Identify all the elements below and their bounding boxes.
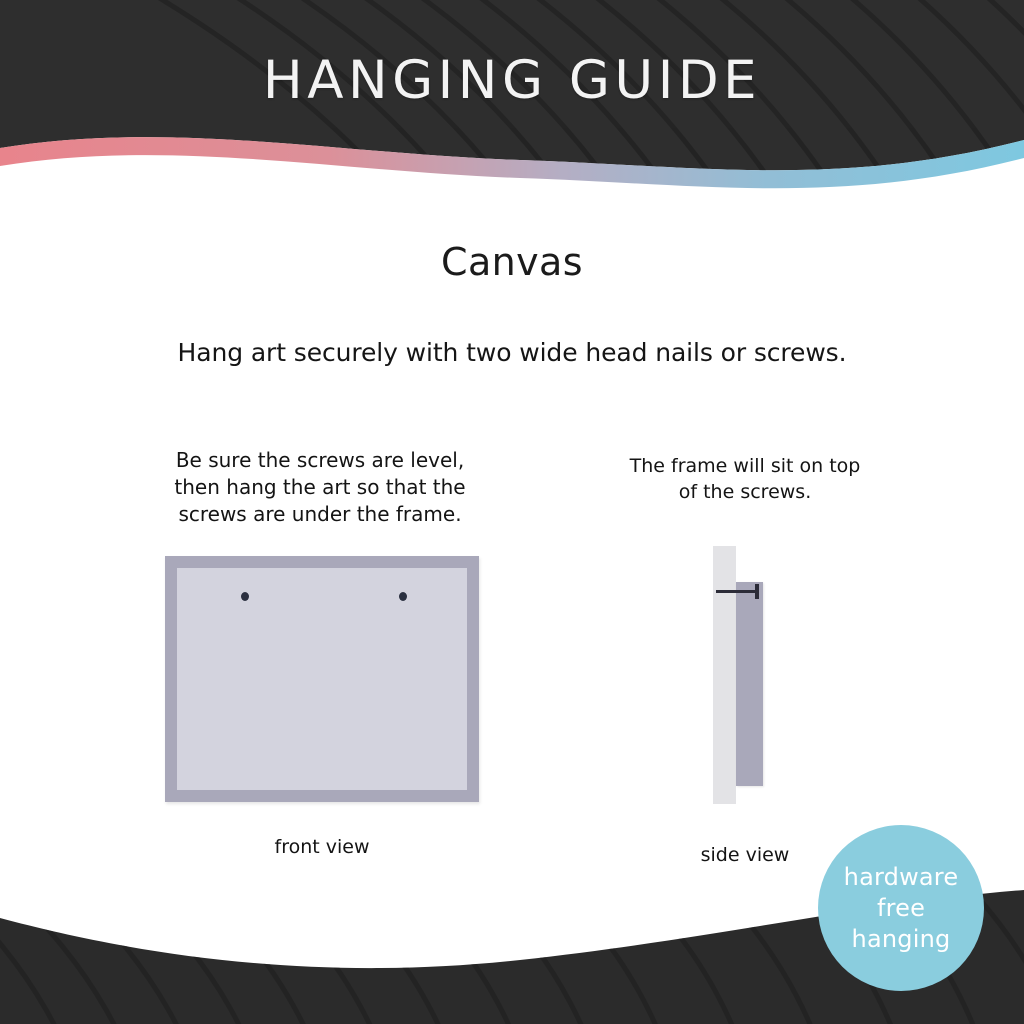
screw-hole-left-icon bbox=[241, 592, 249, 601]
front-view-label: front view bbox=[165, 836, 479, 858]
front-view-frame-diagram bbox=[165, 556, 479, 802]
hardware-free-hanging-badge: hardware free hanging bbox=[818, 825, 984, 991]
front-view-caption-line-1: Be sure the screws are level, bbox=[150, 447, 490, 474]
screw-hole-right-icon bbox=[399, 592, 407, 601]
wall-strip bbox=[713, 546, 736, 804]
badge-line-2: free bbox=[877, 893, 925, 924]
header-band: HANGING GUIDE bbox=[0, 0, 1024, 200]
hanging-guide-poster: HANGING GUIDE Canvas Hang art securely w… bbox=[0, 0, 1024, 1024]
screw-shaft-icon bbox=[716, 590, 758, 593]
front-view-caption-line-3: screws are under the frame. bbox=[150, 501, 490, 528]
badge-line-3: hanging bbox=[852, 924, 951, 955]
front-view-caption-line-2: then hang the art so that the bbox=[150, 474, 490, 501]
side-view-diagram bbox=[700, 546, 790, 806]
front-view-art-panel bbox=[177, 568, 467, 790]
instruction-lede: Hang art securely with two wide head nai… bbox=[0, 338, 1024, 367]
side-view-label: side view bbox=[670, 844, 820, 866]
side-view-caption-line-1: The frame will sit on top bbox=[600, 453, 890, 479]
screw-head-icon bbox=[755, 584, 759, 599]
front-view-caption: Be sure the screws are level, then hang … bbox=[150, 447, 490, 528]
product-name: Canvas bbox=[0, 240, 1024, 284]
side-view-caption: The frame will sit on top of the screws. bbox=[600, 453, 890, 505]
badge-line-1: hardware bbox=[844, 862, 959, 893]
side-view-caption-line-2: of the screws. bbox=[600, 479, 890, 505]
page-title: HANGING GUIDE bbox=[0, 0, 1024, 160]
frame-strip bbox=[736, 582, 763, 786]
